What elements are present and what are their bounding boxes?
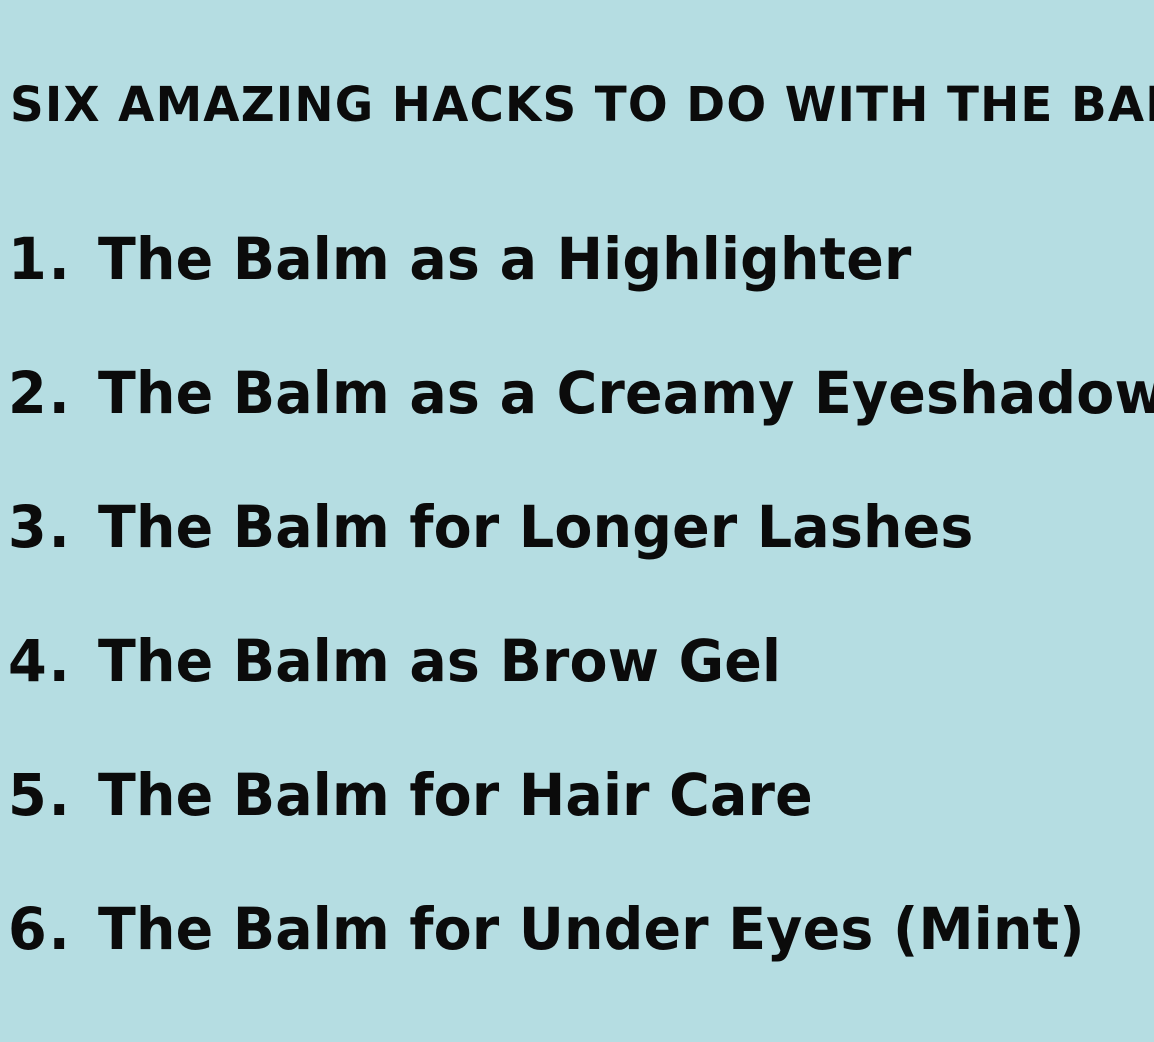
list-item-label: The Balm for Hair Care (98, 764, 813, 826)
list-item-number: 6. (8, 898, 72, 960)
list-item-number: 3. (8, 496, 72, 558)
list-item-label: The Balm as a Creamy Eyeshadow (98, 362, 1154, 424)
list-item-number: 1. (8, 228, 72, 290)
list-item: 6. The Balm for Under Eyes (Mint) (0, 898, 1154, 1032)
list-item: 5. The Balm for Hair Care (0, 764, 1154, 898)
poster-canvas: SIX AMAZING HACKS TO DO WITH THE BALM: 1… (0, 0, 1154, 1042)
list-item: 2. The Balm as a Creamy Eyeshadow (0, 362, 1154, 496)
list-item: 3. The Balm for Longer Lashes (0, 496, 1154, 630)
list-item-label: The Balm as Brow Gel (98, 630, 781, 692)
page-title: SIX AMAZING HACKS TO DO WITH THE BALM: (10, 73, 1116, 137)
hack-list: 1. The Balm as a Highlighter 2. The Balm… (0, 228, 1154, 1032)
list-item: 4. The Balm as Brow Gel (0, 630, 1154, 764)
list-item-label: The Balm as a Highlighter (98, 228, 912, 290)
list-item-label: The Balm for Under Eyes (Mint) (98, 898, 1085, 960)
list-item: 1. The Balm as a Highlighter (0, 228, 1154, 362)
list-item-number: 2. (8, 362, 72, 424)
list-item-label: The Balm for Longer Lashes (98, 496, 974, 558)
list-item-number: 5. (8, 764, 72, 826)
list-item-number: 4. (8, 630, 72, 692)
